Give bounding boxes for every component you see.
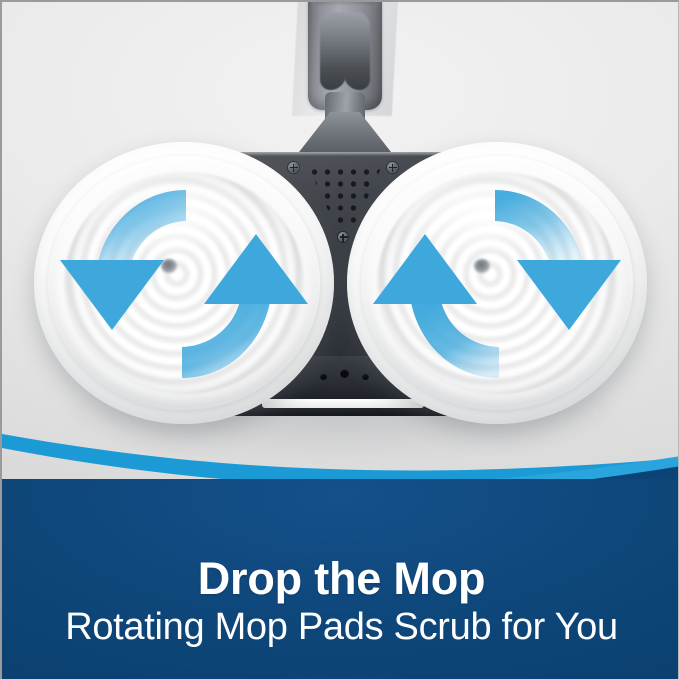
collar-wing-left — [320, 12, 346, 90]
handle-pivot-skirt — [299, 112, 391, 152]
screw-icon — [338, 232, 348, 242]
pad-ribbed-face — [64, 172, 304, 394]
banner-text-block: Drop the Mop Rotating Mop Pads Scrub for… — [2, 556, 679, 649]
plate-hole — [320, 373, 327, 380]
screw-icon — [387, 162, 398, 173]
promo-banner: Drop the Mop Rotating Mop Pads Scrub for… — [2, 479, 679, 679]
plate-lip — [262, 399, 424, 408]
plate-hole — [340, 369, 349, 378]
product-marketing-image: Drop the Mop Rotating Mop Pads Scrub for… — [0, 0, 679, 679]
pad-center-hub — [474, 259, 490, 273]
mop-pad-right — [347, 142, 647, 424]
pad-center-hub — [161, 259, 177, 273]
collar-wing-right — [344, 12, 370, 90]
banner-subheadline: Rotating Mop Pads Scrub for You — [2, 606, 679, 649]
mop-pad-left — [34, 142, 334, 424]
banner-headline: Drop the Mop — [2, 556, 679, 603]
plate-hole — [362, 373, 369, 380]
mop-handle-assembly — [281, 2, 409, 176]
pad-ribbed-face — [377, 172, 617, 394]
screw-icon — [288, 162, 299, 173]
